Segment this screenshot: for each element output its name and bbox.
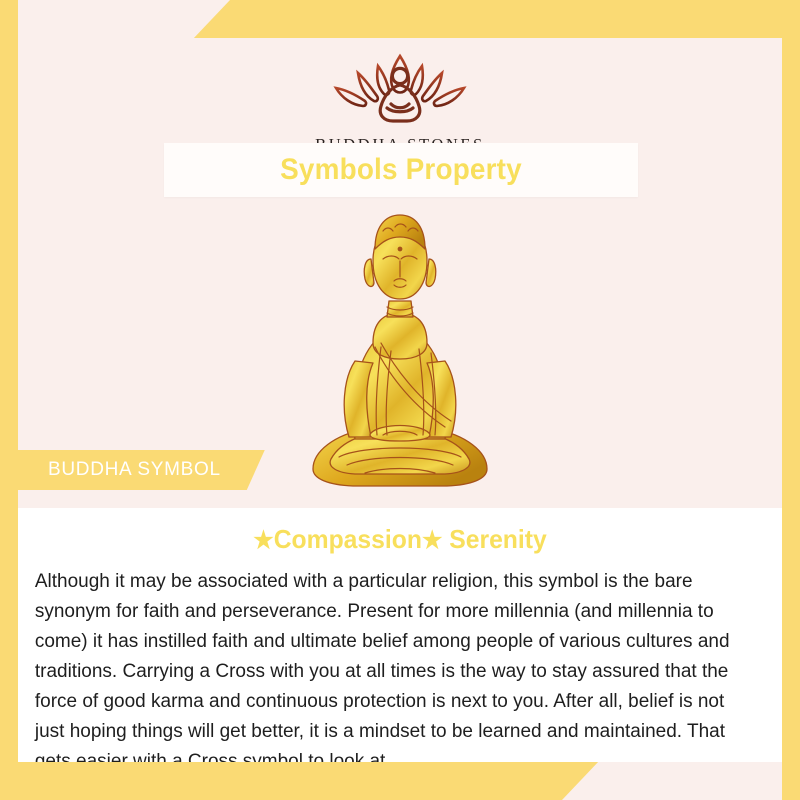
lotus-meditation-icon <box>305 44 495 128</box>
brand-header: BUDDHA STONES <box>18 44 782 155</box>
star-icon-left: ★ <box>253 527 273 554</box>
title-banner: Symbols Property <box>164 143 638 197</box>
page-surface: BUDDHA STONES Symbols Property <box>18 38 782 762</box>
content-subtitle: ★Compassion★ Serenity <box>45 524 756 555</box>
content-card: ★Compassion★ Serenity Although it may be… <box>18 508 782 762</box>
frame-right-band <box>782 0 800 800</box>
frame-top-band <box>0 0 800 40</box>
star-icon-right: ★ <box>422 527 442 554</box>
subtitle-word-serenity: Serenity <box>449 524 546 554</box>
page-title: Symbols Property <box>280 153 522 187</box>
frame-left-band <box>0 0 18 800</box>
frame-bottom-band <box>0 760 800 800</box>
buddha-symbol-tag-label: BUDDHA SYMBOL <box>48 459 221 481</box>
seated-buddha-statue-icon <box>295 201 505 501</box>
buddha-symbol-tag: BUDDHA SYMBOL <box>18 450 265 490</box>
body-paragraph: Although it may be associated with a par… <box>26 567 763 762</box>
subtitle-word-compassion: Compassion <box>274 524 422 554</box>
